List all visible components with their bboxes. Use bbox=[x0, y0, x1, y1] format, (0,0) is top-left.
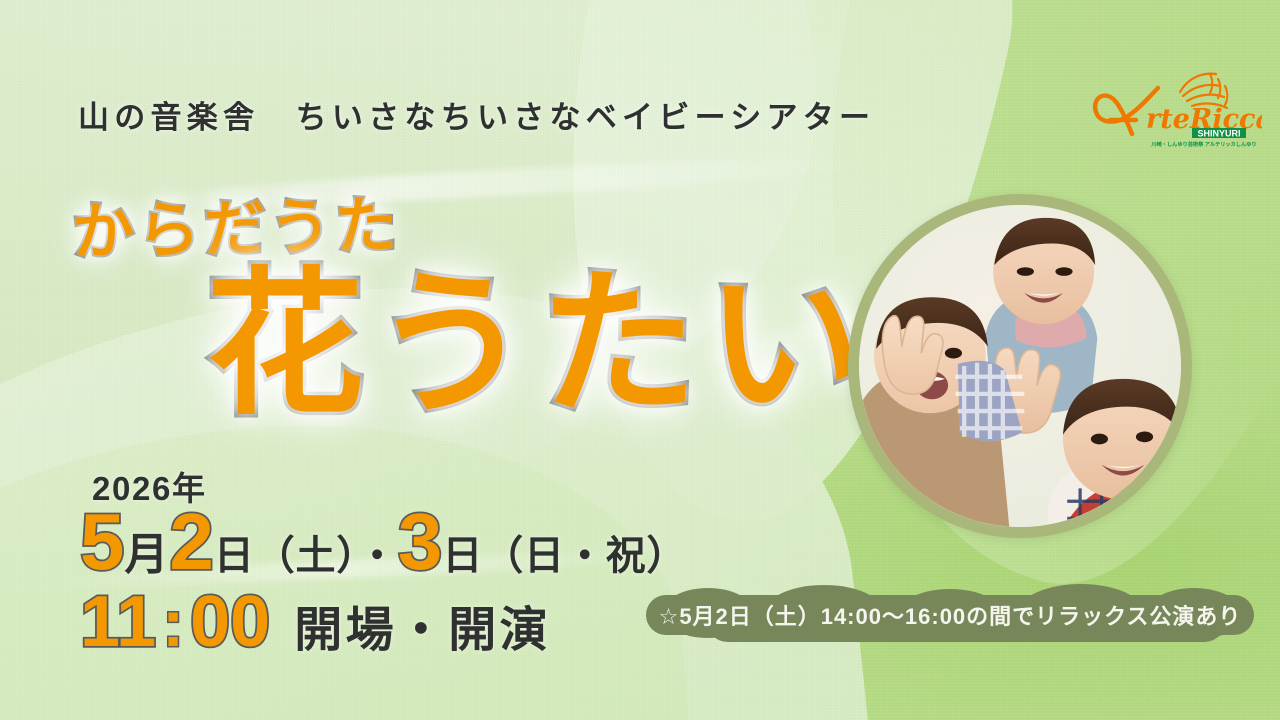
logo-sub-text: SHINYURI bbox=[1197, 129, 1240, 139]
time-hours: 11 bbox=[80, 586, 156, 658]
date-day1-suffix: 日（土）・ bbox=[214, 536, 398, 576]
event-time: 11 : 00 開場・開演 bbox=[80, 586, 551, 658]
date-day1-number: 2 bbox=[169, 502, 214, 582]
event-date: 5 月 2 日（土）・ 3 日（日・祝） bbox=[80, 502, 687, 582]
relax-performance-banner: ☆5月2日（土）14:00〜16:00の間でリラックス公演あり bbox=[646, 588, 1254, 642]
time-minutes: 00 bbox=[190, 586, 270, 658]
poster-canvas: 山の音楽舎 ちいさなちいさなベイビーシアター rteRicca SHINYURI bbox=[0, 0, 1280, 720]
time-colon: : bbox=[162, 590, 184, 656]
babies-photo-inner bbox=[859, 205, 1181, 527]
header-organizer-series: 山の音楽舎 ちいさなちいさなベイビーシアター bbox=[78, 92, 875, 137]
date-month-number: 5 bbox=[80, 502, 125, 582]
banner-text: ☆5月2日（土）14:00〜16:00の間でリラックス公演あり bbox=[646, 588, 1254, 642]
babies-photo bbox=[848, 194, 1192, 538]
date-day2-number: 3 bbox=[398, 502, 443, 582]
logo-caption-text: 川崎・しんゆり芸術祭 アルテリッカしんゆり bbox=[1150, 140, 1256, 148]
wheat-mark-icon bbox=[1180, 74, 1227, 108]
date-month-unit: 月 bbox=[125, 533, 170, 577]
page-title: 花うたい bbox=[206, 266, 873, 424]
time-label: 開場・開演 bbox=[294, 607, 551, 655]
arte-ricca-logo[interactable]: rteRicca SHINYURI 川崎・しんゆり芸術祭 アルテリッカしんゆり bbox=[1084, 62, 1262, 152]
date-day2-suffix: 日（日・祝） bbox=[442, 536, 687, 576]
